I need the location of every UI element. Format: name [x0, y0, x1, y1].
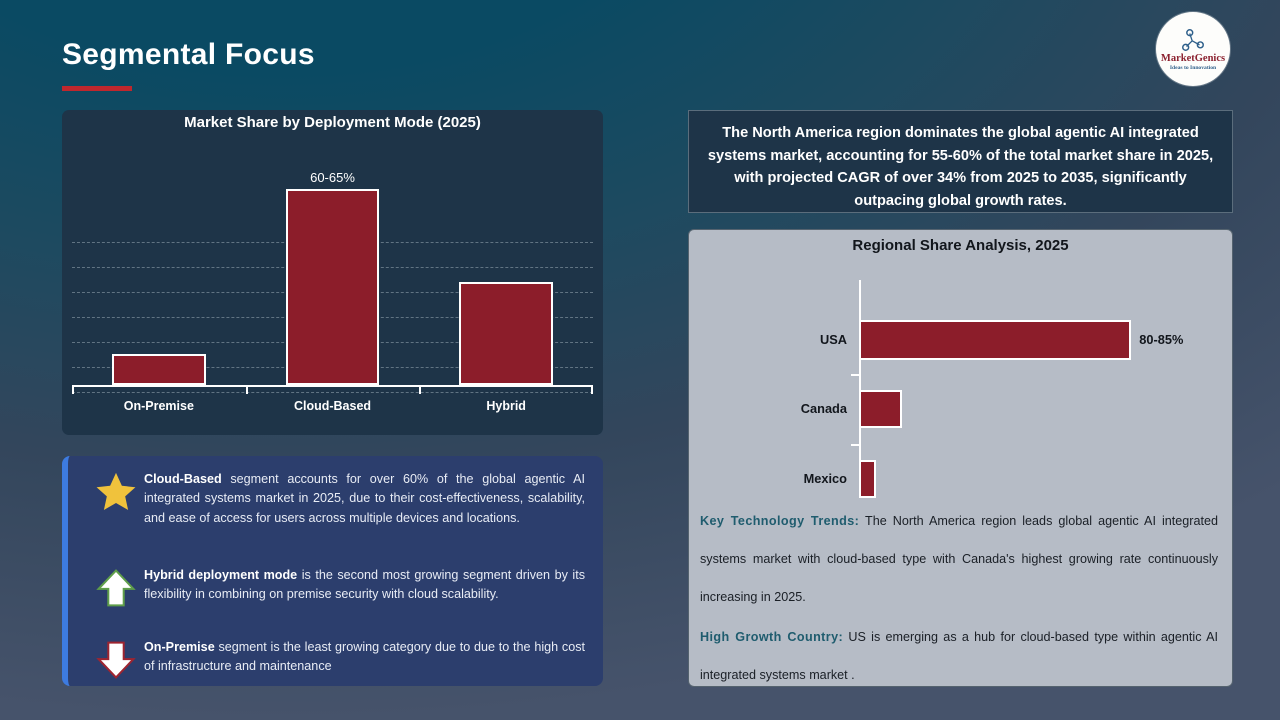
- bar-canada[interactable]: [859, 390, 902, 428]
- bar-on-premise[interactable]: [112, 354, 206, 385]
- trend-lead-label: Key Technology Trends:: [700, 514, 859, 528]
- network-nodes-icon: [1180, 27, 1206, 53]
- x-axis-line: [72, 385, 593, 387]
- category-label-canada: Canada: [709, 401, 847, 416]
- deployment-chart-title: Market Share by Deployment Mode (2025): [62, 110, 603, 131]
- bar-hybrid[interactable]: [459, 282, 553, 385]
- insight-text: Cloud-Based segment accounts for over 60…: [144, 470, 593, 528]
- bar-usa[interactable]: [859, 320, 1131, 360]
- page-title: Segmental Focus: [62, 38, 315, 72]
- deployment-chart-plot-area: On-Premise60-65%Cloud-BasedHybrid: [72, 146, 593, 387]
- category-label-on-premise: On-Premise: [89, 399, 229, 413]
- insight-row: Cloud-Based segment accounts for over 60…: [88, 470, 593, 528]
- x-axis-tick: [419, 385, 421, 394]
- trend-paragraph: Key Technology Trends: The North America…: [700, 502, 1218, 616]
- insight-text: On-Premise segment is the least growing …: [144, 638, 593, 677]
- x-axis-tick: [246, 385, 248, 394]
- trend-lead-label: High Growth Country:: [700, 630, 843, 644]
- category-label-mexico: Mexico: [709, 471, 847, 486]
- category-label-hybrid: Hybrid: [436, 399, 576, 413]
- brand-logo: MarketGenics Ideas to Innovation: [1156, 12, 1230, 86]
- logo-brand-text: MarketGenics: [1161, 54, 1225, 65]
- slide-root: Segmental Focus MarketGenics Ideas to In…: [0, 0, 1280, 720]
- bar-value-label: 60-65%: [273, 170, 393, 185]
- gridline: [72, 392, 593, 393]
- regional-chart-title: Regional Share Analysis, 2025: [689, 230, 1232, 254]
- arrow-down-icon: [88, 638, 144, 682]
- insight-bold-lead: Cloud-Based: [144, 472, 222, 486]
- y-axis-tick: [851, 374, 859, 376]
- insight-bold-lead: On-Premise: [144, 640, 215, 654]
- category-label-usa: USA: [709, 332, 847, 347]
- insight-text: Hybrid deployment mode is the second mos…: [144, 566, 593, 605]
- bar-cloud-based[interactable]: [286, 189, 380, 385]
- star-icon: [88, 470, 144, 514]
- category-label-cloud-based: Cloud-Based: [263, 399, 403, 413]
- x-axis-tick: [72, 385, 74, 394]
- north-america-callout: The North America region dominates the g…: [688, 110, 1233, 213]
- deployment-mode-chart-panel: Market Share by Deployment Mode (2025) O…: [62, 110, 603, 435]
- arrow-up-icon: [88, 566, 144, 610]
- x-axis-tick: [591, 385, 593, 394]
- regional-chart-plot-area: USA80-85%CanadaMexico: [689, 268, 1233, 500]
- y-axis-tick: [851, 444, 859, 446]
- logo-tagline-text: Ideas to Innovation: [1170, 66, 1216, 72]
- insights-card: Cloud-Based segment accounts for over 60…: [62, 456, 603, 686]
- trend-paragraph: High Growth Country: US is emerging as a…: [700, 618, 1218, 687]
- bar-mexico[interactable]: [859, 460, 876, 498]
- bar-value-label: 80-85%: [1139, 332, 1183, 347]
- insight-row: On-Premise segment is the least growing …: [88, 638, 593, 682]
- regional-analysis-card: Regional Share Analysis, 2025 USA80-85%C…: [688, 229, 1233, 687]
- title-underline-accent: [62, 86, 132, 91]
- insight-bold-lead: Hybrid deployment mode: [144, 568, 297, 582]
- insight-row: Hybrid deployment mode is the second mos…: [88, 566, 593, 610]
